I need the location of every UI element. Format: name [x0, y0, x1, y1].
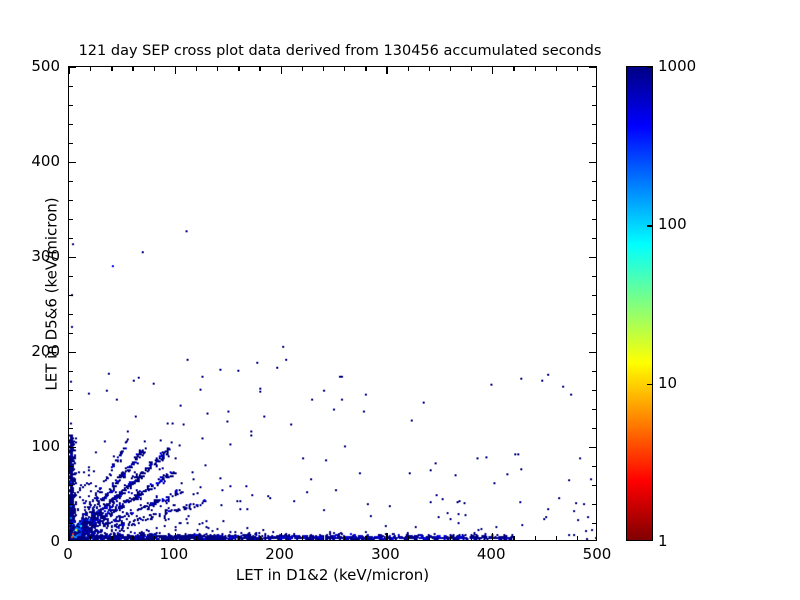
y-tick-minor — [69, 86, 73, 87]
y-tick-major-right — [589, 447, 596, 448]
x-ticklabel: 100 — [159, 545, 188, 563]
y-tick-minor-right — [592, 181, 596, 182]
x-tick-minor-top — [535, 67, 536, 71]
x-tick-minor — [302, 536, 303, 540]
colorbar — [626, 66, 653, 541]
x-tick-major — [175, 533, 176, 540]
y-tick-minor-right — [592, 371, 596, 372]
y-tick-minor — [69, 485, 73, 486]
y-tick-major-right — [589, 67, 596, 68]
colorbar-gradient — [627, 67, 652, 540]
x-tick-minor-top — [365, 67, 366, 71]
x-tick-minor — [323, 536, 324, 540]
x-tick-minor — [535, 536, 536, 540]
y-tick-minor — [69, 124, 73, 125]
x-tick-minor-top — [132, 67, 133, 71]
x-tick-minor — [513, 536, 514, 540]
y-tick-minor-right — [592, 523, 596, 524]
x-tick-minor-top — [259, 67, 260, 71]
x-tick-minor — [450, 536, 451, 540]
y-tick-major-right — [589, 162, 596, 163]
y-tick-minor-right — [592, 295, 596, 296]
x-tick-minor-top — [196, 67, 197, 71]
x-axis-label: LET in D1&2 (keV/micron) — [68, 566, 597, 584]
y-tick-minor — [69, 200, 73, 201]
y-tick-minor-right — [592, 200, 596, 201]
y-tick-minor-right — [592, 276, 596, 277]
y-tick-minor-right — [592, 105, 596, 106]
y-tick-minor — [69, 390, 73, 391]
y-tick-minor — [69, 428, 73, 429]
y-tick-minor-right — [592, 143, 596, 144]
y-tick-minor — [69, 295, 73, 296]
x-tick-minor-top — [429, 67, 430, 71]
y-tick-minor-right — [592, 409, 596, 410]
x-tick-minor-top — [408, 67, 409, 71]
y-tick-major-right — [589, 257, 596, 258]
y-tick-minor — [69, 105, 73, 106]
colorbar-tick — [647, 384, 652, 385]
x-tick-minor-top — [111, 67, 112, 71]
x-tick-minor — [259, 536, 260, 540]
colorbar-ticklabel: 10 — [658, 374, 677, 392]
x-tick-minor — [365, 536, 366, 540]
x-tick-minor-top — [323, 67, 324, 71]
y-tick-minor — [69, 371, 73, 372]
x-tick-minor — [408, 536, 409, 540]
x-ticklabel: 200 — [265, 545, 294, 563]
x-tick-major — [386, 533, 387, 540]
figure-canvas: 121 day SEP cross plot data derived from… — [0, 0, 800, 600]
y-tick-minor — [69, 523, 73, 524]
x-tick-major-top — [175, 67, 176, 74]
scatter-plot-area — [69, 67, 596, 540]
y-tick-minor — [69, 314, 73, 315]
y-tick-minor-right — [592, 504, 596, 505]
colorbar-ticklabel: 1 — [658, 532, 668, 550]
x-tick-minor — [132, 536, 133, 540]
x-tick-minor — [471, 536, 472, 540]
chart-title-line-1: 121 day SEP cross plot data derived from… — [0, 43, 680, 61]
x-tick-major — [69, 533, 70, 540]
x-tick-major — [281, 533, 282, 540]
y-tick-minor — [69, 181, 73, 182]
y-tick-minor-right — [592, 390, 596, 391]
x-tick-minor-top — [90, 67, 91, 71]
colorbar-ticklabel: 100 — [658, 215, 687, 233]
y-axis-label: LET in D5&6 (keV/micron) — [43, 57, 61, 532]
x-ticklabel: 300 — [371, 545, 400, 563]
y-tick-major — [69, 162, 76, 163]
y-tick-minor-right — [592, 466, 596, 467]
x-tick-minor-top — [556, 67, 557, 71]
x-tick-minor-top — [577, 67, 578, 71]
x-tick-minor-top — [154, 67, 155, 71]
y-tick-minor — [69, 238, 73, 239]
colorbar-tick — [647, 225, 652, 226]
x-tick-minor-top — [513, 67, 514, 71]
x-tick-minor — [90, 536, 91, 540]
x-tick-minor-top — [302, 67, 303, 71]
y-tick-minor — [69, 143, 73, 144]
x-ticklabel: 500 — [583, 545, 612, 563]
colorbar-tick — [647, 67, 652, 68]
x-tick-major-top — [386, 67, 387, 74]
y-tick-minor-right — [592, 485, 596, 486]
x-tick-minor — [196, 536, 197, 540]
y-tick-major — [69, 67, 76, 68]
x-tick-minor — [577, 536, 578, 540]
x-tick-minor — [154, 536, 155, 540]
x-tick-minor-top — [471, 67, 472, 71]
x-tick-minor-top — [238, 67, 239, 71]
y-tick-minor-right — [592, 428, 596, 429]
x-tick-minor — [429, 536, 430, 540]
x-ticklabel: 400 — [477, 545, 506, 563]
x-tick-minor — [344, 536, 345, 540]
plot-axes — [68, 66, 597, 541]
y-tick-minor-right — [592, 314, 596, 315]
colorbar-ticklabel: 1000 — [658, 57, 696, 75]
y-tick-minor-right — [592, 333, 596, 334]
x-tick-minor-top — [344, 67, 345, 71]
y-tick-major — [69, 257, 76, 258]
y-tick-minor — [69, 333, 73, 334]
x-tick-minor — [111, 536, 112, 540]
x-ticklabel: 0 — [63, 545, 73, 563]
x-tick-minor — [238, 536, 239, 540]
y-tick-minor — [69, 466, 73, 467]
y-tick-major — [69, 447, 76, 448]
y-tick-minor — [69, 276, 73, 277]
y-tick-minor-right — [592, 219, 596, 220]
y-ticklabel: 0 — [6, 532, 60, 550]
y-tick-minor — [69, 504, 73, 505]
y-tick-minor — [69, 219, 73, 220]
y-tick-minor-right — [592, 238, 596, 239]
x-tick-major — [492, 533, 493, 540]
x-tick-minor — [556, 536, 557, 540]
x-tick-major-top — [492, 67, 493, 74]
y-tick-minor — [69, 409, 73, 410]
y-tick-major-right — [589, 352, 596, 353]
y-tick-major — [69, 352, 76, 353]
x-tick-minor — [217, 536, 218, 540]
x-tick-major-top — [281, 67, 282, 74]
x-tick-minor-top — [450, 67, 451, 71]
y-tick-minor-right — [592, 124, 596, 125]
y-tick-minor-right — [592, 86, 596, 87]
x-tick-minor-top — [217, 67, 218, 71]
